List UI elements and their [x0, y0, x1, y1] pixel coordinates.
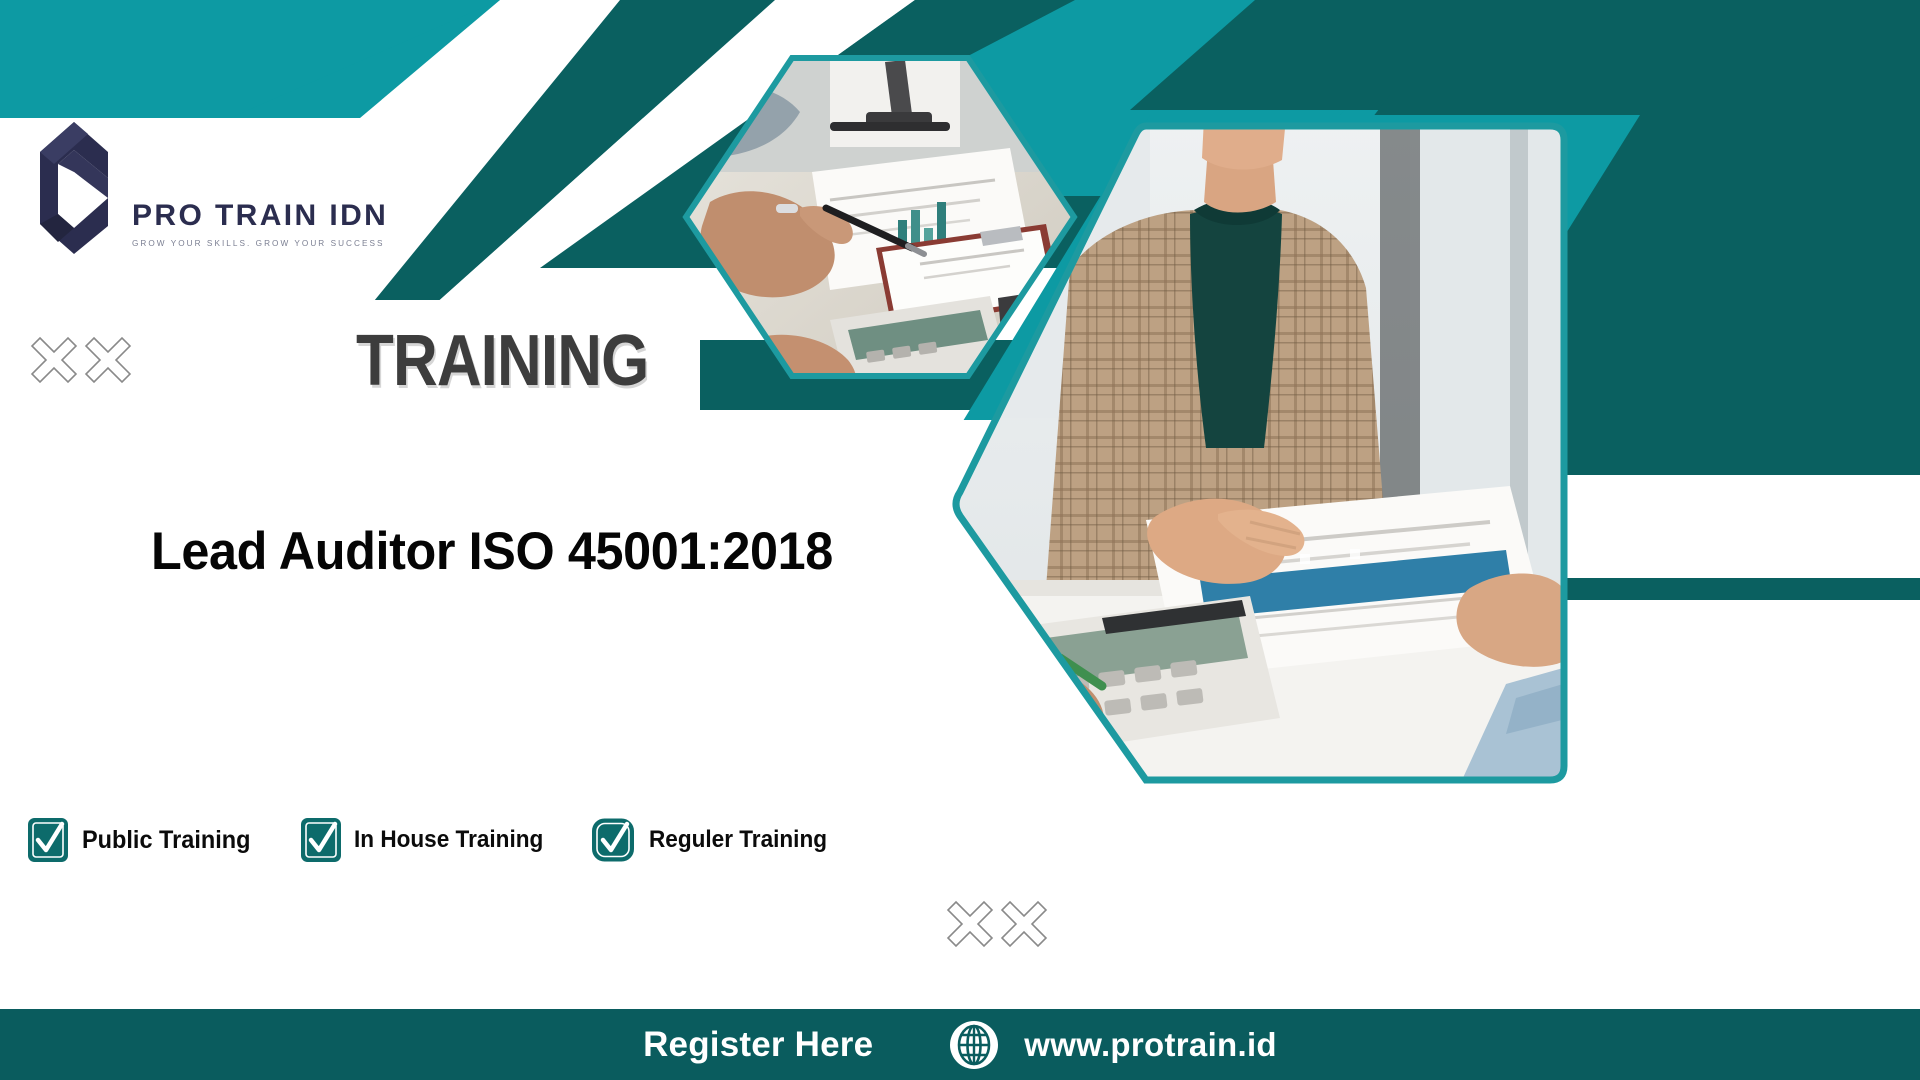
training-option-label: In House Training [354, 826, 543, 854]
globe-icon [948, 1019, 1000, 1071]
x-cross-outline-icon [82, 334, 134, 386]
page-title: Lead Auditor ISO 45001:2018 [151, 525, 833, 578]
x-cross-outline-icon [998, 898, 1050, 950]
checkbox-checked-icon[interactable] [301, 818, 341, 862]
checkbox-checked-icon[interactable] [592, 818, 634, 862]
layer-dark-sliver-tr [1130, 0, 1920, 110]
register-here-label: Register Here [643, 1025, 873, 1065]
training-option-public[interactable]: Public Training [28, 818, 261, 862]
x-cross-outline-icon [944, 898, 996, 950]
x-cross-outline-icon [28, 334, 80, 386]
training-option-in-house[interactable]: In House Training [301, 818, 555, 862]
page-eyebrow-training: TRAINING [356, 325, 648, 397]
training-options-row: Public Training In House Training Regule… [28, 818, 838, 862]
training-option-label: Public Training [82, 826, 250, 855]
website-url[interactable]: www.protrain.id [1024, 1026, 1277, 1064]
hexagon-photo-main [950, 118, 1570, 788]
checkbox-checked-icon[interactable] [28, 818, 68, 862]
brand-logo: PRO TRAIN IDN GROW YOUR SKILLS. GROW YOU… [30, 118, 388, 258]
pro-train-arrow-logo-icon [30, 118, 118, 258]
footer-bar: Register Here www.protrain.id [0, 1009, 1920, 1080]
decor-x-cluster-top-left [28, 334, 134, 386]
training-option-label: Reguler Training [649, 826, 827, 854]
logo-tagline: GROW YOUR SKILLS. GROW YOUR SUCCESS [132, 239, 388, 248]
logo-company-name: PRO TRAIN IDN [132, 201, 388, 231]
banner-canvas: PRO TRAIN IDN GROW YOUR SKILLS. GROW YOU… [0, 0, 1920, 1080]
layer-white-mid [0, 420, 1100, 1009]
decor-x-cluster-bottom [944, 898, 1050, 950]
training-option-reguler[interactable]: Reguler Training [592, 818, 838, 862]
